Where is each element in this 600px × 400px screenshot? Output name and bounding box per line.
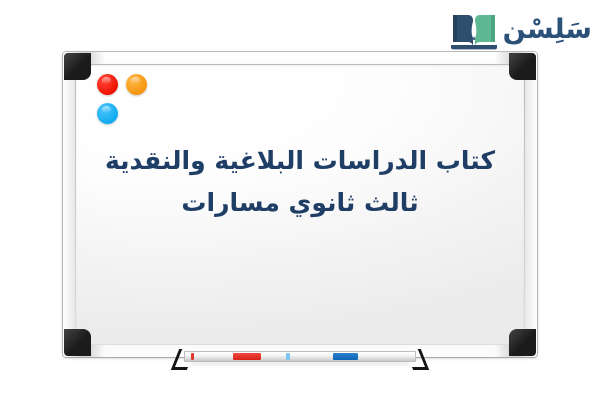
whiteboard: كتاب الدراسات البلاغية والنقدية ثالث ثان…	[63, 52, 537, 357]
frame-corner-bottom-right	[509, 329, 536, 356]
marker-red-thin[interactable]	[191, 353, 194, 360]
tray-shadow	[191, 363, 409, 366]
whiteboard-title-line-2: ثالث ثانوي مسارات	[81, 186, 519, 220]
brand-logo[interactable]: سَلِسْن	[451, 6, 592, 54]
whiteboard-title-line-1: كتاب الدراسات البلاغية والنقدية	[81, 144, 519, 178]
frame-corner-bottom-left	[64, 329, 91, 356]
magnet-red[interactable]	[97, 74, 118, 95]
magnet-orange[interactable]	[126, 74, 147, 95]
marker-tray	[175, 349, 425, 371]
marker-lightblue[interactable]	[286, 353, 290, 360]
open-book-icon	[451, 9, 497, 51]
tray-rail	[184, 351, 416, 362]
marker-red[interactable]	[233, 353, 261, 360]
marker-blue[interactable]	[333, 353, 358, 360]
frame-corner-top-right	[509, 53, 536, 80]
whiteboard-text: كتاب الدراسات البلاغية والنقدية ثالث ثان…	[81, 144, 519, 219]
brand-name: سَلِسْن	[503, 16, 592, 45]
magnet-blue[interactable]	[97, 103, 118, 124]
frame-corner-top-left	[64, 53, 91, 80]
magnet-group	[97, 74, 167, 132]
